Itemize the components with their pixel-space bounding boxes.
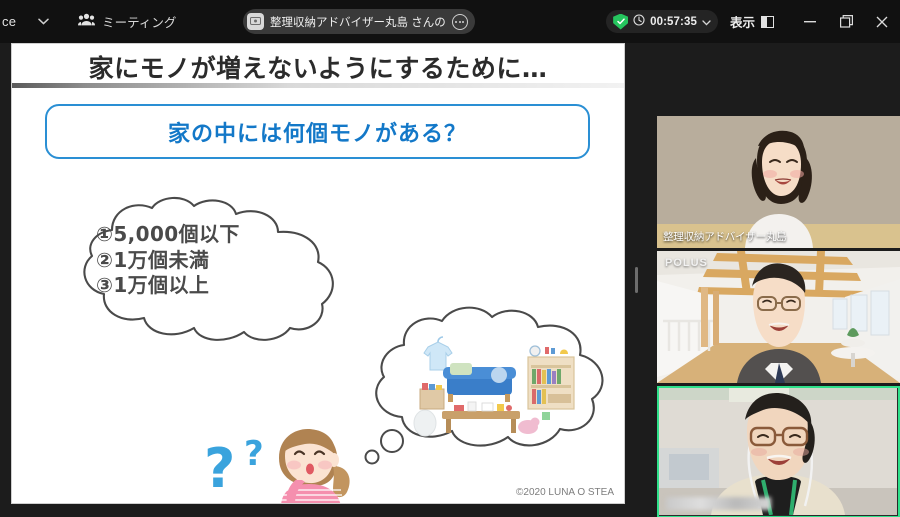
- options-list: ①5,000個以下 ②1万個未満 ③1万個以上: [96, 222, 240, 299]
- teams-meeting-window: ce ミーティング: [0, 0, 900, 517]
- meeting-nav-label: ミーティング: [102, 12, 176, 31]
- title-bar-left: ce ミーティング: [0, 9, 176, 35]
- screen-share-icon: [247, 13, 264, 30]
- participant-name-3-blurred: [666, 497, 771, 510]
- options-thought-cloud: ①5,000個以下 ②1万個未満 ③1万個以上: [60, 194, 380, 349]
- slide-headline-text: 家の中には何個モノがある？: [168, 116, 467, 148]
- view-button[interactable]: 表示: [730, 12, 774, 31]
- option-1: ①5,000個以下: [96, 222, 240, 248]
- option-2: ②1万個未満: [96, 248, 240, 274]
- slide-title: 家にモノが増えないようにするために…: [12, 49, 624, 85]
- meeting-stage: 家にモノが増えないようにするために… 家の中には何個モノがある？ ①5,000個…: [0, 43, 900, 517]
- panel-resize-handle[interactable]: [632, 43, 640, 517]
- room-thought-cloud: [342, 299, 625, 469]
- participant-name-1: 整理収納アドバイザー丸島: [663, 229, 787, 244]
- copyright-text: ©2020 LUNA O STEA: [516, 487, 614, 498]
- title-bar: ce ミーティング: [0, 0, 900, 43]
- restore-window-icon[interactable]: [828, 0, 864, 43]
- clock-icon: [633, 13, 645, 31]
- chevron-down-icon[interactable]: [702, 13, 711, 31]
- option-3: ③1万個以上: [96, 273, 240, 299]
- screen-share-indicator[interactable]: 整理収納アドバイザー丸島 さんの: [243, 9, 475, 34]
- close-icon[interactable]: [864, 0, 900, 43]
- layout-view-icon: [761, 16, 774, 28]
- shared-screen-slide[interactable]: 家にモノが増えないようにするために… 家の中には何個モノがある？ ①5,000個…: [11, 43, 625, 504]
- meeting-nav-item[interactable]: ミーティング: [78, 12, 176, 31]
- slide-headline-box: 家の中には何個モノがある？: [45, 104, 590, 159]
- svg-text:?: ?: [204, 437, 235, 500]
- slide-title-rule: [12, 83, 625, 88]
- participant-video-list: 整理収納アドバイザー丸島: [657, 71, 900, 511]
- timer-value: 00:57:35: [650, 16, 697, 28]
- more-options-icon[interactable]: [452, 14, 468, 30]
- minimize-icon[interactable]: [792, 0, 828, 43]
- chevron-down-icon[interactable]: [30, 9, 56, 35]
- participant-tile-3[interactable]: [657, 386, 900, 517]
- view-label: 表示: [730, 12, 755, 31]
- app-name-label: ce: [2, 14, 16, 29]
- shield-check-icon: [613, 14, 628, 30]
- toybox-illustration: [420, 383, 444, 409]
- thinking-woman-illustration: [257, 422, 367, 504]
- meeting-timer[interactable]: 00:57:35: [606, 10, 718, 33]
- title-bar-right: 00:57:35 表示: [606, 0, 900, 43]
- window-controls: [792, 0, 900, 43]
- participant-video-2: [657, 251, 900, 383]
- screen-share-label: 整理収納アドバイザー丸島 さんの: [270, 14, 446, 30]
- people-icon: [78, 13, 95, 31]
- participant-tile-2[interactable]: POLUS: [657, 251, 900, 383]
- polus-watermark: POLUS: [665, 257, 708, 269]
- resize-handle-icon: [635, 267, 638, 293]
- cloud-shape-icon: [342, 299, 625, 469]
- participant-video-3: [659, 388, 897, 515]
- participant-tile-1[interactable]: 整理収納アドバイザー丸島: [657, 116, 900, 248]
